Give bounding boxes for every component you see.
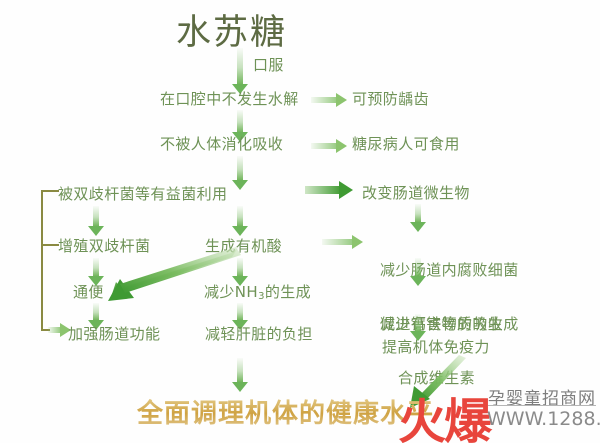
arrow-organic-acid-to-reduce-nh3 bbox=[232, 258, 248, 286]
arrow-bifido-to-proliferate bbox=[88, 206, 104, 236]
watermark-url: WWW.1288.TV bbox=[487, 408, 600, 430]
node-reduce-liver-burden: 减轻肝脏的负担 bbox=[205, 326, 313, 344]
node-oral-route: 口服 bbox=[253, 57, 284, 75]
node-reduce-nh3-subscript: 3 bbox=[258, 291, 265, 302]
node-reduce-putrefactive-line1: 减少肠道内腐败细菌 bbox=[380, 261, 519, 279]
bracket-vertical bbox=[41, 190, 43, 330]
arrow-bracket-to-strengthen-gut bbox=[48, 323, 70, 337]
node-promote-absorption-line1: 促进钙铁等的吸收 bbox=[380, 315, 503, 333]
node-not-digested-absorbed: 不被人体消化吸收 bbox=[160, 136, 283, 154]
arrow-title-to-no-hydrolysis bbox=[232, 48, 248, 94]
arrow-organic-acid-to-reduce-putrefactive bbox=[322, 235, 364, 249]
node-strengthen-gut-function: 加强肠道功能 bbox=[68, 326, 160, 344]
node-reduce-nh3: 减少NH3的生成 bbox=[204, 284, 311, 303]
node-reduce-nh3-prefix: 减少NH bbox=[204, 283, 258, 301]
bracket-branch-bifido bbox=[41, 190, 59, 192]
node-reduce-nh3-suffix: 的生成 bbox=[265, 283, 311, 301]
node-used-by-bifidobacteria: 被双歧杆菌等有益菌利用 bbox=[58, 186, 227, 204]
node-change-gut-microbes: 改变肠道微生物 bbox=[362, 185, 470, 203]
bottom-headline: 全面调理机体的健康水平 bbox=[137, 393, 434, 430]
arrow-to-diabetics bbox=[311, 139, 347, 153]
node-improve-immunity: 提高机体免疫力 bbox=[382, 339, 490, 357]
node-no-hydrolysis-in-mouth: 在口腔中不发生水解 bbox=[160, 91, 299, 109]
node-prevent-caries: 可预防龋齿 bbox=[352, 91, 429, 109]
bracket-branch-proliferate bbox=[41, 244, 59, 246]
arrow-to-prevent-caries bbox=[311, 93, 347, 107]
arrow-absorption-to-immunity bbox=[410, 314, 426, 340]
arrow-liver-to-headline bbox=[232, 358, 248, 392]
arrow-to-change-gut-microbes bbox=[305, 183, 353, 197]
watermark-divider bbox=[488, 405, 596, 406]
arrow-bifido-to-organic-acid bbox=[232, 206, 248, 236]
flowchart-canvas: 水苏糖 口服 在口腔中不发生水解 可预防龋齿 不被人体消化吸收 糖尿病人可食用 … bbox=[0, 0, 600, 443]
watermark-brand: 火爆 bbox=[398, 382, 490, 443]
node-diabetics-can-eat: 糖尿病人可食用 bbox=[352, 136, 460, 154]
arrow-not-digested-to-bifido bbox=[232, 156, 248, 190]
